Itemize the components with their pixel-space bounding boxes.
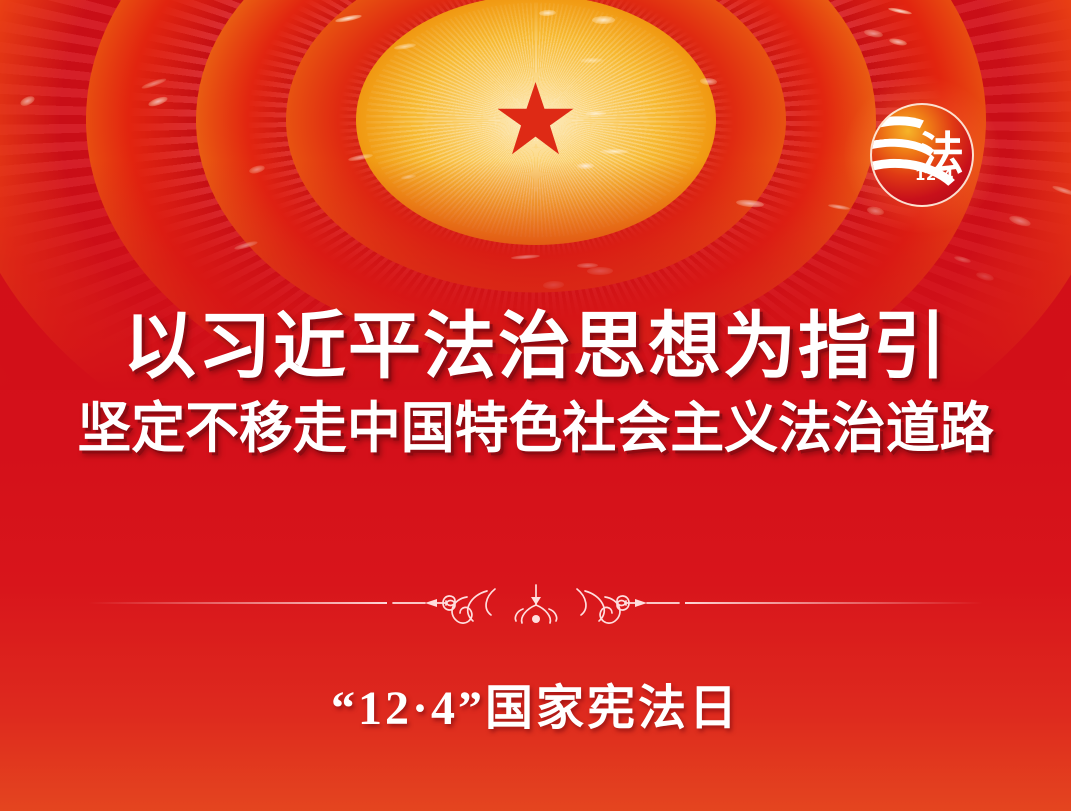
ceiling-light (888, 6, 912, 15)
ceiling-light (147, 95, 169, 108)
ceiling-light (600, 149, 629, 154)
ceiling-light (539, 9, 556, 16)
poster-canvas: 法 12·4 以习近平法治思想为指引 坚定不移走中国特色社会主义法治道路 (0, 0, 1071, 811)
ceiling-light (141, 77, 168, 91)
divider-flourish-icon (391, 575, 681, 631)
ceiling-light (863, 29, 883, 39)
constitution-day-label: “12·4”国家宪法日 (331, 668, 740, 738)
headline-line-2: 坚定不移走中国特色社会主义法治道路 (11, 400, 1061, 456)
ceiling-light (580, 58, 603, 63)
ceiling-light (592, 16, 615, 24)
divider-line-left (88, 602, 387, 604)
emblem-disc: 法 12·4 (870, 103, 974, 207)
ceiling-light (19, 94, 36, 107)
emblem-date-label: 12·4 (915, 166, 954, 184)
ceiling-light (585, 110, 606, 116)
ceiling-light (700, 78, 717, 86)
ceiling-light (394, 43, 417, 51)
ornamental-flourish-divider (88, 575, 983, 631)
footer-block: “12·4”国家宪法日 (0, 668, 1071, 738)
ceiling-light (889, 37, 908, 47)
divider-line-right (685, 602, 984, 604)
headline-line-1: 以习近平法治思想为指引 (0, 310, 1071, 384)
ceiling-light (335, 13, 362, 23)
constitution-day-emblem[interactable]: 法 12·4 (870, 103, 974, 207)
headline-block: 以习近平法治思想为指引 坚定不移走中国特色社会主义法治道路 (0, 310, 1071, 457)
